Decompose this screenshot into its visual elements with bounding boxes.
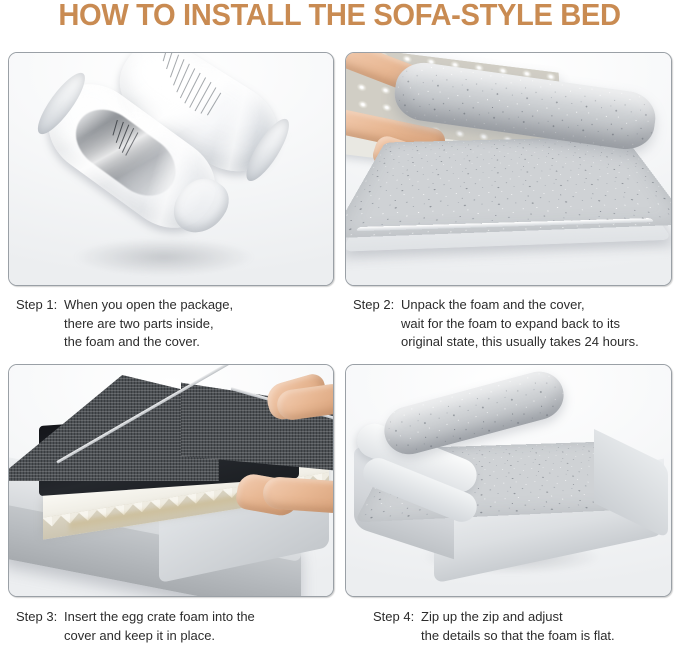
step-3-label: Step 3: <box>16 608 64 645</box>
step-3-caption: Step 3: Insert the egg crate foam into t… <box>16 608 255 645</box>
step-2-caption: Step 2: Unpack the foam and the cover, w… <box>353 296 639 352</box>
step-4-caption: Step 4: Zip up the zip and adjust the de… <box>373 608 615 645</box>
step-3-image <box>8 364 334 597</box>
step-2-label: Step 2: <box>353 296 401 352</box>
step-4-image <box>345 364 672 597</box>
step-1-image <box>8 52 334 286</box>
step-3-text: Insert the egg crate foam into the cover… <box>64 608 255 645</box>
step-2-text: Unpack the foam and the cover, wait for … <box>401 296 639 352</box>
step-2-image <box>345 52 672 286</box>
step-1-label: Step 1: <box>16 296 64 352</box>
step-1-caption: Step 1: When you open the package, there… <box>16 296 233 352</box>
step-4-text: Zip up the zip and adjust the details so… <box>421 608 615 645</box>
step-4-label: Step 4: <box>373 608 421 645</box>
step-1-text: When you open the package, there are two… <box>64 296 233 352</box>
